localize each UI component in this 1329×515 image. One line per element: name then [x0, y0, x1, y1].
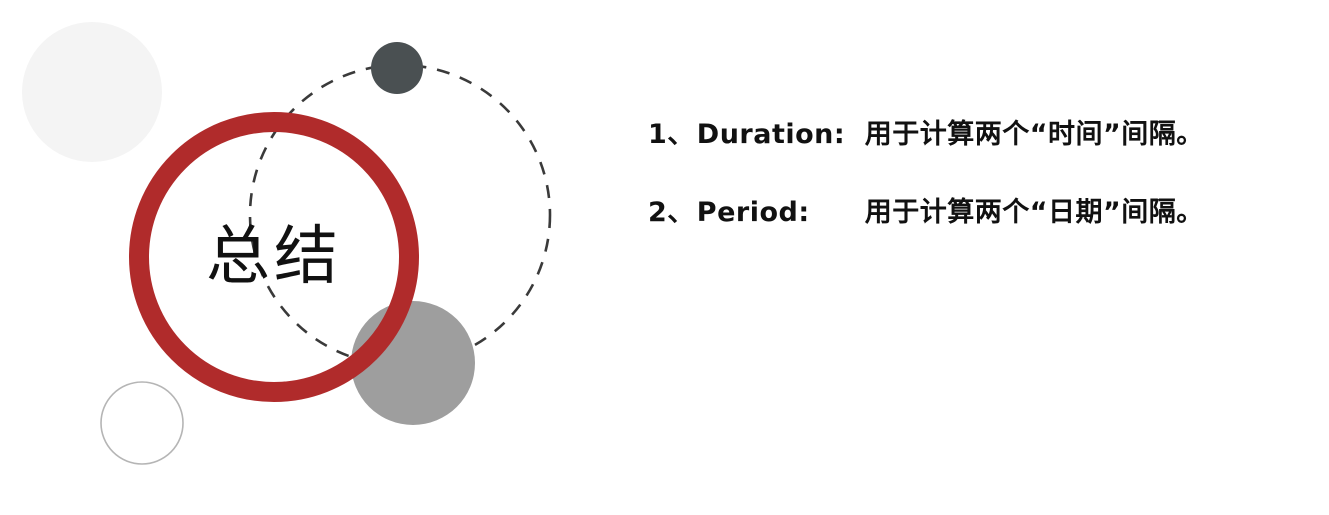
bullet-index: 2、 [648, 190, 695, 229]
bullet-term: Period: [697, 197, 865, 228]
summary-slide: 总结 1、 Duration: 用于计算两个“时间”间隔。 2、 Period:… [0, 0, 1329, 515]
bullet-item-period: 2、 Period: 用于计算两个“日期”间隔。 [648, 190, 1308, 268]
decorative-circle-graphic: 总结 [0, 0, 620, 515]
bullet-description: 用于计算两个“日期”间隔。 [865, 190, 1204, 229]
light-gray-filled-circle-icon [22, 22, 162, 162]
bullet-index: 1、 [648, 112, 695, 151]
ring-center-label: 总结 [206, 225, 342, 289]
bullet-term: Duration: [697, 119, 865, 150]
dark-slate-filled-circle-icon [371, 42, 423, 94]
thin-gray-outline-circle-icon [101, 382, 183, 464]
bullet-description: 用于计算两个“时间”间隔。 [865, 112, 1204, 151]
bullet-item-duration: 1、 Duration: 用于计算两个“时间”间隔。 [648, 112, 1308, 190]
bullet-list: 1、 Duration: 用于计算两个“时间”间隔。 2、 Period: 用于… [648, 112, 1308, 268]
